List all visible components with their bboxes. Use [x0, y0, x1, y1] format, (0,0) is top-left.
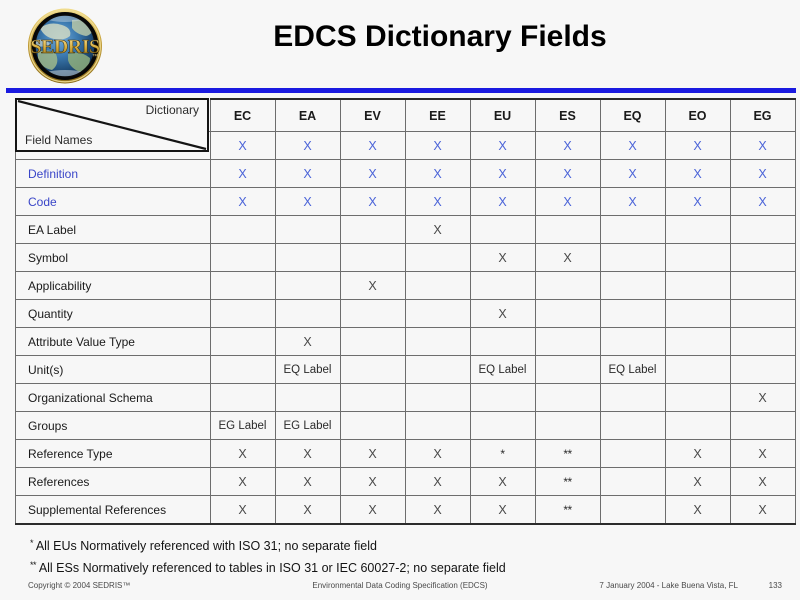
cell-ee: X [405, 160, 470, 188]
cell-eu [470, 412, 535, 440]
table-row: CodeXXXXXXXXX [16, 188, 796, 216]
cell-eq: X [600, 188, 665, 216]
row-label: References [16, 468, 211, 496]
cell-eo [665, 244, 730, 272]
cell-es [535, 412, 600, 440]
cell-es [535, 300, 600, 328]
cell-eg: X [730, 160, 795, 188]
cell-eu [470, 328, 535, 356]
cell-ec [210, 328, 275, 356]
footer-page-number: 133 [769, 581, 782, 590]
cell-es [535, 384, 600, 412]
cell-es [535, 328, 600, 356]
cell-ev: X [340, 468, 405, 496]
cell-eg [730, 244, 795, 272]
footnote-double-asterisk: ** All ESs Normatively referenced to tab… [30, 556, 730, 578]
cell-ea: X [275, 188, 340, 216]
cell-eo: X [665, 188, 730, 216]
cell-ee: X [405, 496, 470, 525]
row-label: Attribute Value Type [16, 328, 211, 356]
table-row: SymbolXX [16, 244, 796, 272]
cell-eu: X [470, 496, 535, 525]
cell-eq: EQ Label [600, 356, 665, 384]
cell-eo: X [665, 468, 730, 496]
cell-ec: EG Label [210, 412, 275, 440]
cell-eg [730, 300, 795, 328]
page-title: EDCS Dictionary Fields [160, 20, 720, 54]
cell-ev [340, 300, 405, 328]
cell-ev [340, 244, 405, 272]
cell-ea: EQ Label [275, 356, 340, 384]
cell-es: X [535, 160, 600, 188]
row-label: Organizational Schema [16, 384, 211, 412]
cell-ea [275, 384, 340, 412]
cell-es [535, 216, 600, 244]
cell-ea [275, 272, 340, 300]
cell-ev: X [340, 160, 405, 188]
cell-eu: EQ Label [470, 356, 535, 384]
row-label: Definition [16, 160, 211, 188]
cell-eq [600, 412, 665, 440]
cell-ee: X [405, 188, 470, 216]
column-header-es: ES [535, 99, 600, 132]
cell-eo [665, 328, 730, 356]
cell-ee [405, 384, 470, 412]
table-row: Supplemental ReferencesXXXXX**XX [16, 496, 796, 525]
cell-eq: X [600, 132, 665, 160]
cell-ee [405, 300, 470, 328]
row-label: Groups [16, 412, 211, 440]
table-body: LabelXXXXXXXXXDefinitionXXXXXXXXXCodeXXX… [16, 132, 796, 525]
row-label: Applicability [16, 272, 211, 300]
cell-ee [405, 244, 470, 272]
cell-ec: X [210, 188, 275, 216]
cell-eo: X [665, 496, 730, 525]
footnote-text: All EUs Normatively referenced with ISO … [36, 539, 377, 553]
cell-ec: X [210, 440, 275, 468]
table-row: ReferencesXXXXX**XX [16, 468, 796, 496]
cell-eu [470, 384, 535, 412]
column-header-eq: EQ [600, 99, 665, 132]
cell-ev [340, 216, 405, 244]
cell-ev [340, 384, 405, 412]
cell-ec [210, 356, 275, 384]
svg-text:™: ™ [92, 53, 98, 60]
cell-ev [340, 356, 405, 384]
cell-eo: X [665, 440, 730, 468]
cell-ea: X [275, 468, 340, 496]
cell-es: X [535, 244, 600, 272]
corner-label-dictionary: Dictionary [146, 103, 199, 117]
cell-ec [210, 244, 275, 272]
cell-eg: X [730, 468, 795, 496]
cell-eq [600, 244, 665, 272]
cell-eg: X [730, 132, 795, 160]
cell-eg: X [730, 188, 795, 216]
cell-es: X [535, 188, 600, 216]
slide-footer: Copyright © 2004 SEDRIS™ Environmental D… [0, 578, 800, 598]
cell-eu [470, 272, 535, 300]
cell-eo: X [665, 132, 730, 160]
corner-header-diagonal: Dictionary Field Names [15, 98, 209, 152]
cell-eu: X [470, 468, 535, 496]
cell-ev: X [340, 132, 405, 160]
cell-es [535, 356, 600, 384]
cell-eu: X [470, 300, 535, 328]
cell-ev: X [340, 272, 405, 300]
cell-eg: X [730, 496, 795, 525]
cell-eg [730, 272, 795, 300]
cell-ea: X [275, 496, 340, 525]
cell-eo [665, 272, 730, 300]
cell-ee [405, 412, 470, 440]
cell-ec [210, 300, 275, 328]
cell-eg [730, 412, 795, 440]
row-label: Code [16, 188, 211, 216]
cell-ea [275, 216, 340, 244]
cell-ee [405, 328, 470, 356]
cell-ea: X [275, 132, 340, 160]
cell-eg [730, 356, 795, 384]
cell-eg: X [730, 384, 795, 412]
footnote-text: All ESs Normatively referenced to tables… [39, 561, 506, 575]
table-row: EA LabelX [16, 216, 796, 244]
cell-es: ** [535, 440, 600, 468]
column-header-eu: EU [470, 99, 535, 132]
column-header-ee: EE [405, 99, 470, 132]
cell-eq [600, 328, 665, 356]
cell-eq: X [600, 160, 665, 188]
table-row: DefinitionXXXXXXXXX [16, 160, 796, 188]
cell-ee [405, 356, 470, 384]
sedris-globe-logo: SEDRIS ™ [20, 8, 110, 84]
cell-ea: X [275, 328, 340, 356]
cell-ee [405, 272, 470, 300]
column-header-eg: EG [730, 99, 795, 132]
cell-ec [210, 216, 275, 244]
column-header-ec: EC [210, 99, 275, 132]
table-row: Organizational SchemaX [16, 384, 796, 412]
cell-ec: X [210, 160, 275, 188]
cell-eu: X [470, 188, 535, 216]
cell-ec: X [210, 496, 275, 525]
cell-eq [600, 300, 665, 328]
edcs-dictionary-fields-table: EC EA EV EE EU ES EQ EO EG LabelXXXXXXXX… [15, 98, 796, 525]
cell-ea [275, 300, 340, 328]
cell-eo [665, 300, 730, 328]
cell-eo [665, 384, 730, 412]
cell-eq [600, 468, 665, 496]
cell-ev: X [340, 188, 405, 216]
row-label: Quantity [16, 300, 211, 328]
footnote-single-asterisk: * All EUs Normatively referenced with IS… [30, 534, 730, 556]
title-divider [6, 88, 796, 93]
cell-eg: X [730, 440, 795, 468]
cell-ea [275, 244, 340, 272]
footnotes: * All EUs Normatively referenced with IS… [30, 534, 730, 578]
footnote-mark: * [30, 538, 33, 548]
cell-eu [470, 216, 535, 244]
cell-eq [600, 272, 665, 300]
cell-ea: X [275, 440, 340, 468]
table-row: ApplicabilityX [16, 272, 796, 300]
column-header-ev: EV [340, 99, 405, 132]
cell-ee: X [405, 468, 470, 496]
cell-eo [665, 412, 730, 440]
footer-date-location: 7 January 2004 - Lake Buena Vista, FL [599, 581, 738, 590]
table-row: Unit(s)EQ LabelEQ LabelEQ Label [16, 356, 796, 384]
table-row: QuantityX [16, 300, 796, 328]
cell-eq [600, 216, 665, 244]
cell-ec: X [210, 468, 275, 496]
cell-es: ** [535, 496, 600, 525]
cell-eq [600, 496, 665, 525]
cell-ea: EG Label [275, 412, 340, 440]
cell-ec [210, 384, 275, 412]
cell-eu: X [470, 160, 535, 188]
row-label: Supplemental References [16, 496, 211, 525]
cell-eq [600, 384, 665, 412]
cell-ec [210, 272, 275, 300]
column-header-ea: EA [275, 99, 340, 132]
cell-ea: X [275, 160, 340, 188]
cell-eu: X [470, 244, 535, 272]
footnote-mark: ** [30, 560, 36, 570]
cell-ev [340, 328, 405, 356]
table-row: GroupsEG LabelEG Label [16, 412, 796, 440]
svg-text:SEDRIS: SEDRIS [30, 36, 100, 58]
cell-eu: X [470, 132, 535, 160]
corner-label-field-names: Field Names [25, 133, 92, 147]
table-row: Reference TypeXXXX***XX [16, 440, 796, 468]
row-label: Unit(s) [16, 356, 211, 384]
cell-eg [730, 328, 795, 356]
cell-eu: * [470, 440, 535, 468]
cell-ee: X [405, 440, 470, 468]
cell-eo [665, 216, 730, 244]
row-label: EA Label [16, 216, 211, 244]
cell-ee: X [405, 216, 470, 244]
cell-eo [665, 356, 730, 384]
column-header-eo: EO [665, 99, 730, 132]
row-label: Reference Type [16, 440, 211, 468]
cell-ev: X [340, 440, 405, 468]
cell-es: ** [535, 468, 600, 496]
table-row: Attribute Value TypeX [16, 328, 796, 356]
cell-eg [730, 216, 795, 244]
cell-es [535, 272, 600, 300]
cell-ec: X [210, 132, 275, 160]
row-label: Symbol [16, 244, 211, 272]
cell-ev: X [340, 496, 405, 525]
cell-eo: X [665, 160, 730, 188]
cell-eq [600, 440, 665, 468]
cell-es: X [535, 132, 600, 160]
slide-header: SEDRIS ™ EDCS Dictionary Fields [0, 0, 800, 88]
cell-ev [340, 412, 405, 440]
cell-ee: X [405, 132, 470, 160]
